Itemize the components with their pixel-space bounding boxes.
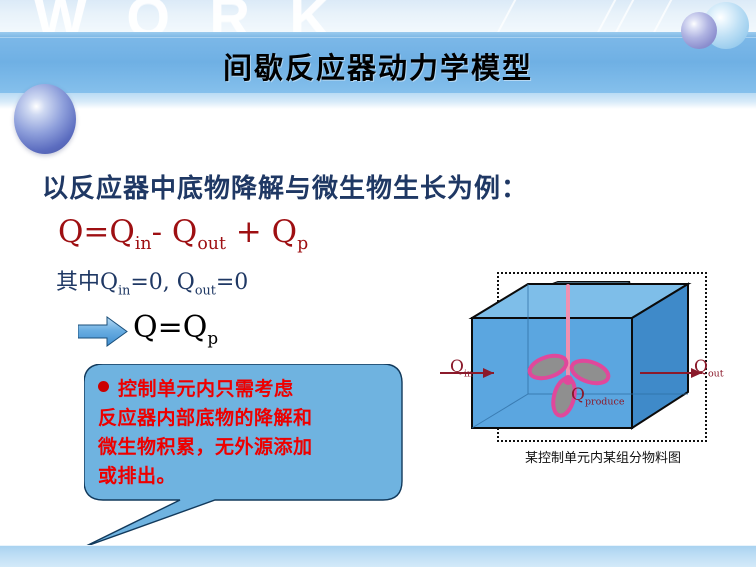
equation-result: Q=Qp bbox=[133, 310, 218, 348]
implies-arrow-icon bbox=[78, 316, 128, 347]
callout-line-4: 或排出。 bbox=[98, 462, 390, 491]
equation-conditions: 其中Qin=0, Qout=0 bbox=[56, 264, 248, 298]
eq-q: Q bbox=[58, 214, 83, 250]
page-title: 间歇反应器动力学模型 bbox=[0, 45, 756, 87]
eq-q-p: Q bbox=[272, 214, 297, 250]
condition-sub-out: out bbox=[195, 283, 216, 298]
eq-plus: + bbox=[236, 214, 262, 250]
result-sub: p bbox=[207, 328, 218, 348]
eq-equals: = bbox=[83, 214, 109, 250]
label-q-produce-sub: produce bbox=[585, 396, 625, 407]
callout-line-1-text: 控制单元内只需考虑 bbox=[118, 378, 294, 400]
callout-bubble: 控制单元内只需考虑 反应器内部底物的降解和 微生物积累，无外源添加 或排出。 bbox=[84, 364, 406, 549]
condition-value-out: =0 bbox=[216, 270, 248, 295]
result-q: Q=Q bbox=[133, 310, 207, 345]
eq-minus: - bbox=[152, 214, 162, 250]
slide-canvas: W O R K 间歇反应器动力学模型 以反应器中底物降解与微生物生长为例： Q=… bbox=[0, 0, 756, 567]
label-q-produce: Qproduce bbox=[571, 385, 625, 407]
bullet-dot-icon bbox=[98, 381, 109, 392]
eq-q-in: Q bbox=[109, 214, 134, 250]
callout-text: 控制单元内只需考虑 反应器内部底物的降解和 微生物积累，无外源添加 或排出。 bbox=[98, 375, 390, 491]
eq-sub-p: p bbox=[297, 234, 308, 254]
equation-mass-balance: Q=Qin- Qout + Qp bbox=[58, 214, 308, 254]
header-band-fade bbox=[0, 93, 756, 109]
lead-statement: 以反应器中底物降解与微生物生长为例： bbox=[42, 168, 528, 205]
eq-sub-out: out bbox=[197, 234, 226, 254]
decoration-sphere-purple-large bbox=[14, 84, 76, 154]
label-q-in-main: Q bbox=[450, 357, 464, 377]
label-q-out-main: Q bbox=[694, 357, 708, 377]
callout-line-1: 控制单元内只需考虑 bbox=[98, 375, 390, 404]
eq-sub-in: in bbox=[135, 234, 152, 254]
label-q-out-sub: out bbox=[708, 368, 724, 379]
label-q-in-sub: in bbox=[464, 368, 473, 379]
callout-line-3: 微生物积累，无外源添加 bbox=[98, 433, 390, 462]
condition-sub-in: in bbox=[118, 283, 130, 298]
eq-q-out: Q bbox=[172, 214, 197, 250]
label-q-out: Qout bbox=[694, 357, 724, 379]
callout-line-2: 反应器内部底物的降解和 bbox=[98, 404, 390, 433]
condition-value-in: =0, bbox=[130, 270, 169, 295]
condition-q-in: Q bbox=[100, 270, 118, 295]
control-volume-cube-diagram bbox=[440, 272, 716, 472]
label-q-produce-main: Q bbox=[571, 385, 585, 405]
label-q-in: Qin bbox=[450, 357, 473, 379]
condition-q-out: Q bbox=[177, 270, 195, 295]
condition-prefix: 其中 bbox=[56, 270, 100, 295]
diagram-caption: 某控制单元内某组分物料图 bbox=[497, 447, 709, 466]
decoration-sphere-purple-small bbox=[681, 12, 717, 49]
footer-strip bbox=[0, 545, 756, 567]
